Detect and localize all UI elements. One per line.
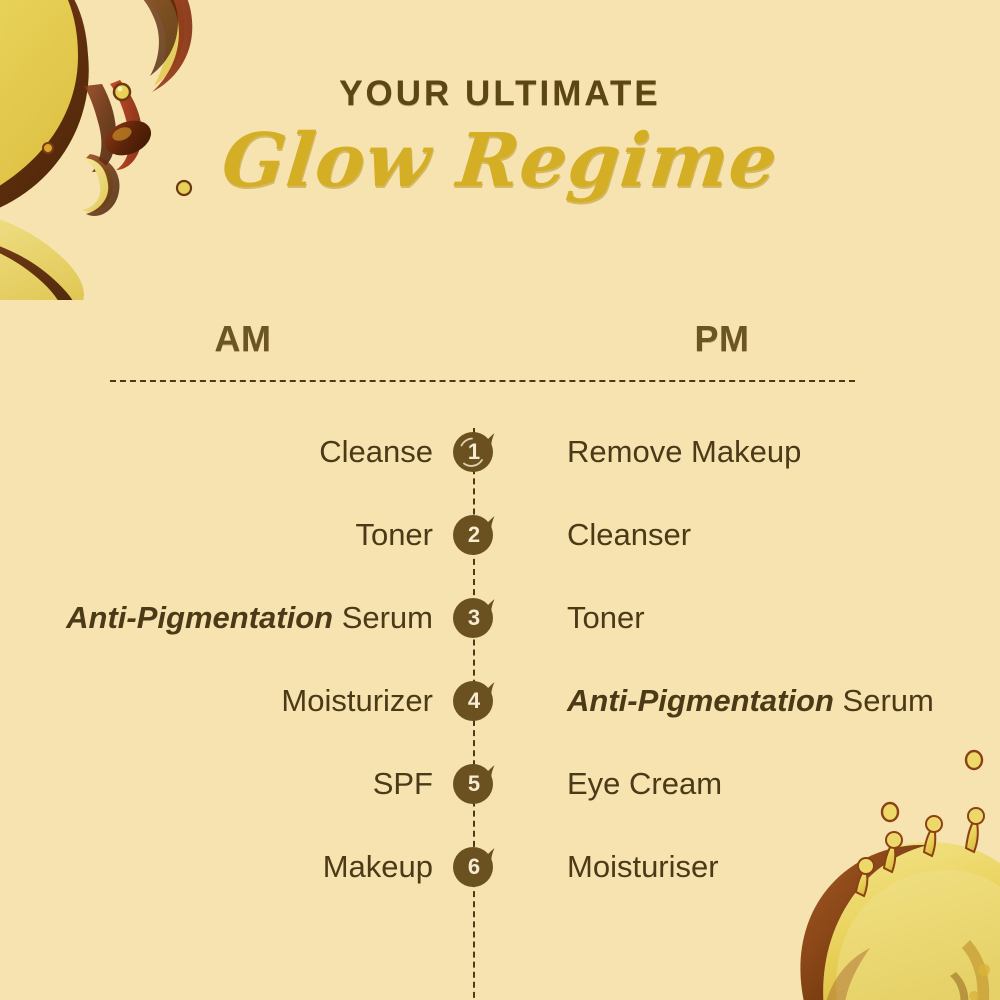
am-step-label: Moisturizer bbox=[281, 683, 433, 719]
routine-row: MakeupMoisturiser6 bbox=[0, 825, 1000, 908]
routine-rows: CleanseRemove Makeup1TonerCleanser2Anti-… bbox=[0, 410, 1000, 908]
routine-row: CleanseRemove Makeup1 bbox=[0, 410, 1000, 493]
routine-row: TonerCleanser2 bbox=[0, 493, 1000, 576]
routine-row: Anti-Pigmentation SerumToner3 bbox=[0, 576, 1000, 659]
routine-row: MoisturizerAnti-Pigmentation Serum4 bbox=[0, 659, 1000, 742]
pm-step-label: Cleanser bbox=[567, 517, 691, 553]
step-badge: 4 bbox=[451, 678, 497, 724]
title-script: Glow Regime bbox=[0, 123, 1000, 201]
step-number: 3 bbox=[451, 595, 497, 641]
column-header-am: AM bbox=[143, 318, 343, 360]
pm-step-label: Eye Cream bbox=[567, 766, 722, 802]
am-step-label: Makeup bbox=[323, 849, 433, 885]
pm-step-label: Remove Makeup bbox=[567, 434, 801, 470]
step-number: 1 bbox=[451, 429, 497, 475]
step-number: 4 bbox=[451, 678, 497, 724]
pm-step-label: Anti-Pigmentation Serum bbox=[567, 683, 934, 719]
step-badge: 5 bbox=[451, 761, 497, 807]
header-divider bbox=[110, 380, 855, 382]
step-badge: 1 bbox=[451, 429, 497, 475]
table-header-row: AM PM bbox=[0, 318, 1000, 380]
am-step-label: Toner bbox=[355, 517, 433, 553]
column-header-pm: PM bbox=[622, 318, 822, 360]
am-step-emphasis: Anti-Pigmentation bbox=[66, 600, 333, 635]
am-step-text: Serum bbox=[342, 600, 433, 635]
step-number: 2 bbox=[451, 512, 497, 558]
step-number: 6 bbox=[451, 844, 497, 890]
routine-table: AM PM CleanseRemove Makeup1TonerCleanser… bbox=[0, 318, 1000, 908]
pm-step-label: Toner bbox=[567, 600, 645, 636]
step-badge: 3 bbox=[451, 595, 497, 641]
step-number: 5 bbox=[451, 761, 497, 807]
title-block: YOUR ULTIMATE Glow Regime bbox=[0, 76, 1000, 201]
am-step-label: Cleanse bbox=[319, 434, 433, 470]
step-badge: 2 bbox=[451, 512, 497, 558]
am-step-label: SPF bbox=[373, 766, 433, 802]
pm-step-emphasis: Anti-Pigmentation bbox=[567, 683, 834, 718]
pm-step-text: Serum bbox=[843, 683, 934, 718]
pm-step-label: Moisturiser bbox=[567, 849, 719, 885]
step-badge: 6 bbox=[451, 844, 497, 890]
title-kicker: YOUR ULTIMATE bbox=[0, 76, 1000, 111]
routine-row: SPFEye Cream5 bbox=[0, 742, 1000, 825]
am-step-label: Anti-Pigmentation Serum bbox=[66, 600, 433, 636]
